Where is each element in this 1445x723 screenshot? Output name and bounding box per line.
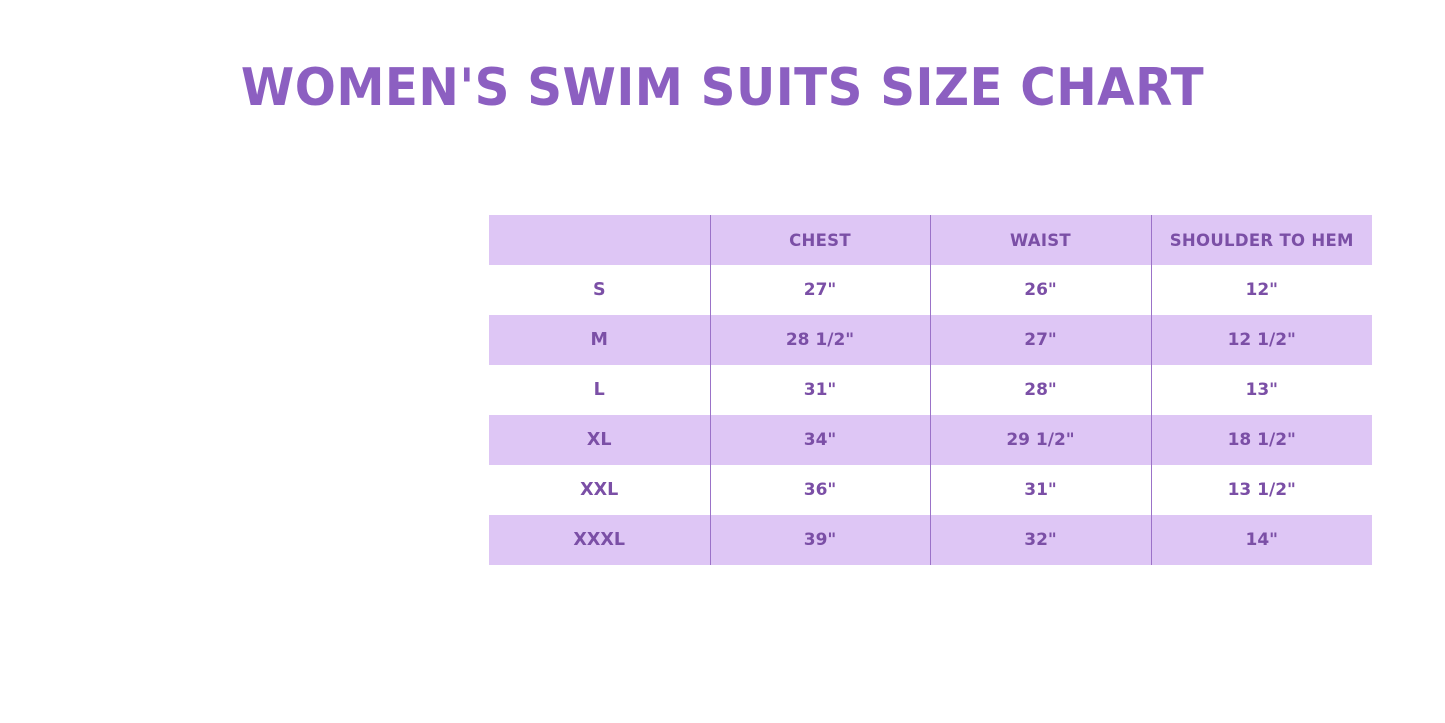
- table-header: CHEST WAIST SHOULDER TO HEM: [489, 215, 1372, 265]
- size-chart-table: CHEST WAIST SHOULDER TO HEM S 27" 26" 12…: [489, 215, 1372, 565]
- cell-shoulder-to-hem: 14": [1151, 515, 1372, 565]
- column-header-chest: CHEST: [710, 215, 930, 265]
- size-chart-page: WOMEN'S SWIM SUITS SIZE CHART CHEST WAIS…: [0, 0, 1445, 723]
- cell-size: XXXL: [489, 515, 710, 565]
- cell-shoulder-to-hem: 12 1/2": [1151, 315, 1372, 365]
- table-row: XL 34" 29 1/2" 18 1/2": [489, 415, 1372, 465]
- cell-chest: 27": [710, 265, 930, 315]
- table-row: S 27" 26" 12": [489, 265, 1372, 315]
- size-chart-table-wrapper: CHEST WAIST SHOULDER TO HEM S 27" 26" 12…: [489, 215, 1372, 565]
- cell-shoulder-to-hem: 12": [1151, 265, 1372, 315]
- page-title: WOMEN'S SWIM SUITS SIZE CHART: [51, 58, 1395, 118]
- column-header-waist: WAIST: [930, 215, 1151, 265]
- cell-chest: 34": [710, 415, 930, 465]
- cell-shoulder-to-hem: 13": [1151, 365, 1372, 415]
- cell-shoulder-to-hem: 13 1/2": [1151, 465, 1372, 515]
- table-body: S 27" 26" 12" M 28 1/2" 27" 12 1/2" L 31…: [489, 265, 1372, 565]
- cell-size: L: [489, 365, 710, 415]
- column-header-size: [489, 215, 710, 265]
- cell-size: M: [489, 315, 710, 365]
- cell-waist: 26": [930, 265, 1151, 315]
- cell-size: S: [489, 265, 710, 315]
- cell-chest: 28 1/2": [710, 315, 930, 365]
- cell-waist: 29 1/2": [930, 415, 1151, 465]
- cell-waist: 27": [930, 315, 1151, 365]
- cell-waist: 31": [930, 465, 1151, 515]
- cell-chest: 39": [710, 515, 930, 565]
- table-row: XXL 36" 31" 13 1/2": [489, 465, 1372, 515]
- table-row: XXXL 39" 32" 14": [489, 515, 1372, 565]
- cell-waist: 32": [930, 515, 1151, 565]
- table-header-row: CHEST WAIST SHOULDER TO HEM: [489, 215, 1372, 265]
- cell-size: XXL: [489, 465, 710, 515]
- cell-shoulder-to-hem: 18 1/2": [1151, 415, 1372, 465]
- cell-size: XL: [489, 415, 710, 465]
- column-header-shoulder-to-hem: SHOULDER TO HEM: [1151, 215, 1372, 265]
- cell-chest: 36": [710, 465, 930, 515]
- table-row: M 28 1/2" 27" 12 1/2": [489, 315, 1372, 365]
- cell-chest: 31": [710, 365, 930, 415]
- cell-waist: 28": [930, 365, 1151, 415]
- table-row: L 31" 28" 13": [489, 365, 1372, 415]
